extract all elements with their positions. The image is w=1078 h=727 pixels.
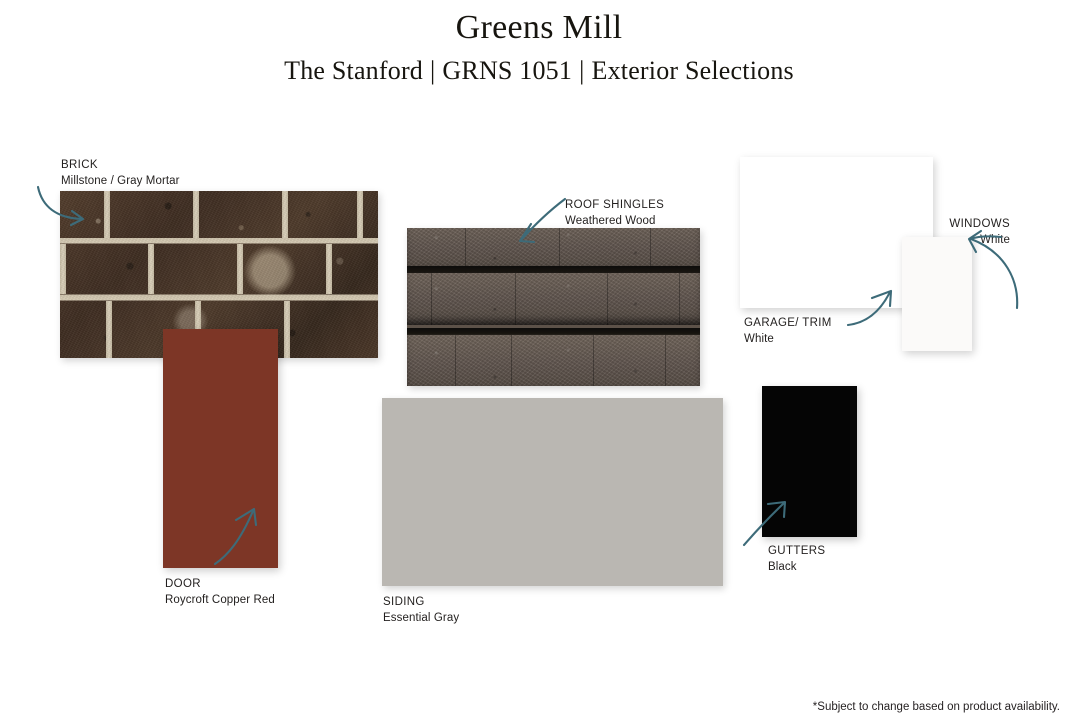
exterior-selections-board: Greens Mill The Stanford|GRNS 1051|Exter… bbox=[0, 0, 1078, 727]
label-siding: SIDING Essential Gray bbox=[383, 595, 459, 626]
swatch-roof-shingles bbox=[407, 228, 700, 386]
label-garage-category: GARAGE/ TRIM bbox=[744, 316, 832, 332]
brick-mortar-joint bbox=[357, 191, 363, 238]
shingle-tab-divider bbox=[593, 335, 594, 386]
label-door-value: Roycroft Copper Red bbox=[165, 593, 275, 609]
label-gutters-category: GUTTERS bbox=[768, 544, 825, 560]
label-door-category: DOOR bbox=[165, 577, 275, 593]
label-garage-value: White bbox=[744, 332, 832, 348]
label-brick-category: BRICK bbox=[61, 158, 180, 174]
shingle-tab-divider bbox=[455, 335, 456, 386]
label-gutters: GUTTERS Black bbox=[768, 544, 825, 575]
shingle-tab-divider bbox=[607, 273, 608, 325]
shingle-tab-divider bbox=[515, 273, 516, 325]
subtitle-plan-name: The Stanford bbox=[284, 56, 423, 85]
swatch-siding bbox=[382, 398, 723, 586]
brick-mortar-joint bbox=[282, 191, 288, 238]
shingle-course bbox=[407, 335, 700, 386]
label-door: DOOR Roycroft Copper Red bbox=[165, 577, 275, 608]
label-windows: WINDOWS White bbox=[949, 217, 1010, 248]
board-header: Greens Mill The Stanford|GRNS 1051|Exter… bbox=[0, 8, 1078, 88]
subtitle-separator-1: | bbox=[423, 56, 442, 85]
brick-mortar-joint bbox=[326, 244, 332, 294]
shingle-tab-divider bbox=[511, 335, 512, 386]
label-brick-value: Millstone / Gray Mortar bbox=[61, 174, 180, 190]
label-gutters-value: Black bbox=[768, 560, 825, 576]
label-garage-trim: GARAGE/ TRIM White bbox=[744, 316, 832, 347]
swatch-windows bbox=[902, 237, 972, 351]
label-windows-value: White bbox=[949, 233, 1010, 249]
brick-mortar-joint bbox=[284, 301, 290, 358]
shingle-course bbox=[407, 273, 700, 325]
brick-mortar-joint bbox=[193, 191, 199, 238]
page-subtitle: The Stanford|GRNS 1051|Exterior Selectio… bbox=[0, 54, 1078, 88]
label-siding-value: Essential Gray bbox=[383, 611, 459, 627]
shingle-tab-divider bbox=[431, 273, 432, 325]
brick-mortar-joint bbox=[104, 191, 110, 238]
label-siding-category: SIDING bbox=[383, 595, 459, 611]
footnote-disclaimer: *Subject to change based on product avai… bbox=[813, 699, 1060, 715]
brick-mortar-joint bbox=[237, 244, 243, 294]
subtitle-lot-number: GRNS 1051 bbox=[442, 56, 572, 85]
label-roof-value: Weathered Wood bbox=[565, 214, 664, 230]
subtitle-separator-2: | bbox=[572, 56, 591, 85]
subtitle-section: Exterior Selections bbox=[591, 56, 793, 85]
brick-mortar-joint bbox=[60, 244, 66, 294]
label-roof-category: ROOF SHINGLES bbox=[565, 198, 664, 214]
label-brick: BRICK Millstone / Gray Mortar bbox=[61, 158, 180, 189]
shingle-tab-divider bbox=[679, 273, 680, 325]
swatch-gutters bbox=[762, 386, 857, 537]
brick-mortar-joint bbox=[148, 244, 154, 294]
swatch-door bbox=[163, 329, 278, 568]
brick-mortar-joint bbox=[106, 301, 112, 358]
page-title: Greens Mill bbox=[0, 8, 1078, 48]
label-roof-shingles: ROOF SHINGLES Weathered Wood bbox=[565, 198, 664, 229]
label-windows-category: WINDOWS bbox=[949, 217, 1010, 233]
shingle-tab-divider bbox=[665, 335, 666, 386]
